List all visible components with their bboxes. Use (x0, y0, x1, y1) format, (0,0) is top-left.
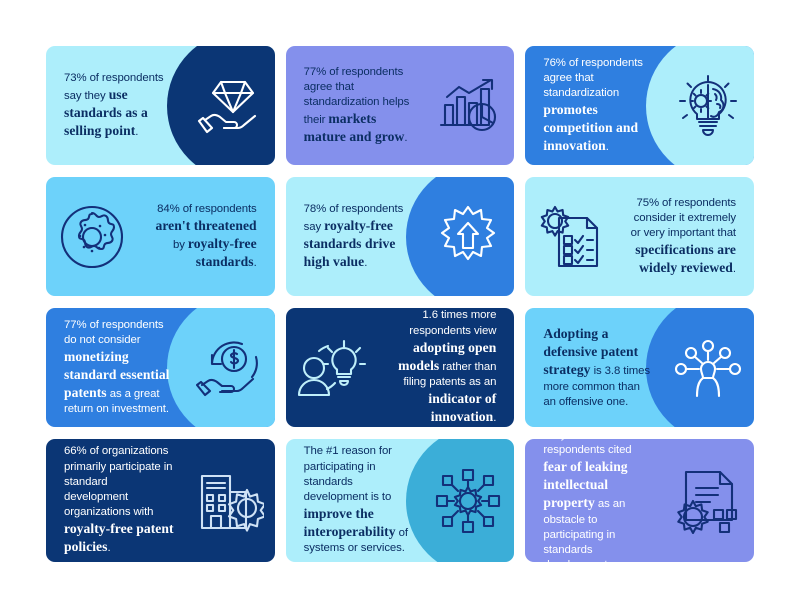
text-end-6: . (733, 263, 736, 275)
stat-card-8-text: 1.6 times more respondents view adopting… (378, 308, 515, 426)
text-bold-3: promotes competition and innovation (543, 102, 638, 153)
starburst-up-arrow-icon (422, 205, 514, 269)
stat-card-6-text: 75% of respondents consider it extremely… (617, 196, 754, 278)
stat-card-11[interactable]: The #1 reason for participating in stand… (286, 439, 515, 562)
stat-card-10[interactable]: 66% of organizations primarily participa… (46, 439, 275, 562)
document-gear-ip-icon (662, 468, 754, 534)
donut-ring-icon (46, 204, 138, 270)
stat-card-3-text: 76% of respondents agree that standardiz… (525, 56, 662, 156)
text-bold-6: specifications are widely reviewed (635, 242, 736, 275)
text-end-3: . (606, 141, 609, 153)
text-bold-10: royalty-free patent policies (64, 521, 174, 554)
stat-card-12[interactable]: Only 19% of respondents cited fear of le… (525, 439, 754, 562)
stat-card-5[interactable]: 78% of respondents say royalty-free stan… (286, 177, 515, 296)
stat-card-7-text: 77% of respondents do not consider monet… (46, 318, 183, 418)
stat-card-11-text: The #1 reason for participating in stand… (286, 444, 423, 556)
stat-card-7[interactable]: 77% of respondents do not consider monet… (46, 308, 275, 427)
text-plain-4a: 84% of respondents (157, 203, 257, 215)
stat-card-grid: 73% of respondents say they use standard… (46, 46, 754, 560)
text-end-1: . (135, 126, 138, 138)
text-plain-8a: 1.6 times more respondents view (409, 309, 496, 336)
stat-card-12-text: Only 19% of respondents cited fear of le… (525, 439, 662, 562)
stat-card-9-text: Adopting a defensive patent strategy is … (525, 325, 662, 410)
diamond-in-hand-icon (183, 76, 275, 136)
stat-card-4-text: 84% of respondents aren't threatened by … (138, 202, 275, 272)
stat-card-1-text: 73% of respondents say they use standard… (46, 71, 183, 141)
building-gear-icon (183, 470, 275, 532)
text-end-5: . (364, 257, 367, 269)
text-bold-4b: royalty-free standards (188, 236, 257, 269)
stat-card-5-text: 78% of respondents say royalty-free stan… (286, 202, 423, 272)
text-end-8: . (493, 412, 496, 424)
stat-card-10-text: 66% of organizations primarily participa… (46, 444, 183, 556)
person-lightbulb-idea-icon (286, 337, 378, 399)
stat-card-2-text: 77% of respondents agree that standardiz… (286, 65, 423, 147)
stat-card-6[interactable]: 75% of respondents consider it extremely… (525, 177, 754, 296)
text-end-2: . (404, 132, 407, 144)
text-plain-7: 77% of respondents do not consider (64, 319, 164, 346)
text-bold-11: improve the interoperability (304, 506, 396, 539)
infographic-root: 73% of respondents say they use standard… (0, 0, 800, 612)
stat-card-4[interactable]: 84% of respondents aren't threatened by … (46, 177, 275, 296)
text-plain-10: 66% of organizations primarily participa… (64, 445, 172, 518)
text-plain-6: 75% of respondents consider it extremely… (631, 197, 736, 239)
text-plain-11: The #1 reason for participating in stand… (304, 445, 392, 502)
checklist-gear-document-icon (525, 204, 617, 270)
dollar-in-hand-recycle-icon (183, 337, 275, 399)
stat-card-2[interactable]: 77% of respondents agree that standardiz… (286, 46, 515, 165)
text-end-4: . (254, 257, 257, 269)
text-end-10: . (107, 542, 110, 554)
text-plain-3: 76% of respondents agree that standardiz… (543, 57, 643, 99)
text-bold-4a: aren't threatened (156, 218, 257, 233)
stat-card-1[interactable]: 73% of respondents say they use standard… (46, 46, 275, 165)
stat-card-3[interactable]: 76% of respondents agree that standardiz… (525, 46, 754, 165)
bar-chart-growth-icon (422, 77, 514, 135)
gear-network-nodes-icon (422, 468, 514, 534)
stat-card-8[interactable]: 1.6 times more respondents view adopting… (286, 308, 515, 427)
stat-card-9[interactable]: Adopting a defensive patent strategy is … (525, 308, 754, 427)
text-bold-8b: indicator of innovation (428, 391, 496, 424)
network-person-nodes-icon (662, 338, 754, 398)
text-plain-12: Only 19% of respondents cited (543, 439, 631, 456)
lightbulb-brain-gear-icon (662, 75, 754, 137)
text-plain-4b: by (173, 239, 188, 251)
